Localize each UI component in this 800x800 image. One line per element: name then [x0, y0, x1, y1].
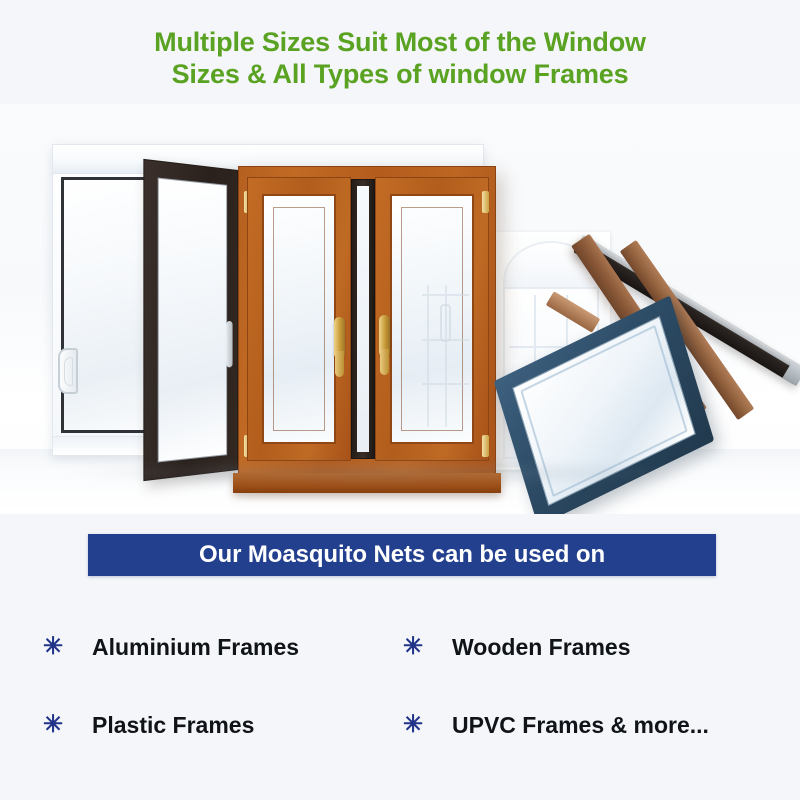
- page-title-line-1: Multiple Sizes Suit Most of the Window: [0, 26, 800, 58]
- asterisk-bullet-icon: ✳: [40, 713, 66, 737]
- list-item-label: Wooden Frames: [452, 634, 631, 661]
- list-item: ✳ Aluminium Frames: [40, 608, 400, 686]
- wooden-window-glass-left: [262, 194, 336, 444]
- background-window-grid: [392, 196, 472, 442]
- section-banner: Our Moasquito Nets can be used on: [88, 534, 716, 576]
- page-title: Multiple Sizes Suit Most of the Window S…: [0, 26, 800, 90]
- wooden-window-handle-right: [379, 315, 390, 357]
- wooden-window-leaf-right: [375, 177, 489, 461]
- list-item-label: Plastic Frames: [92, 712, 254, 739]
- dark-window-handle: [226, 321, 232, 367]
- product-banner-page: Multiple Sizes Suit Most of the Window S…: [0, 0, 800, 800]
- wooden-window-glazing-bead: [273, 207, 325, 431]
- list-item: ✳ Plastic Frames: [40, 686, 400, 764]
- sliding-window-pull-handle: [58, 348, 78, 394]
- wooden-window-mullion: [351, 179, 375, 459]
- wooden-window-hinge: [482, 191, 489, 213]
- asterisk-bullet-icon: ✳: [40, 635, 66, 659]
- wooden-window-hinge: [482, 435, 489, 457]
- dark-window-open-leaf: [143, 159, 238, 481]
- wooden-window-glass-right: [390, 194, 474, 444]
- wooden-window-handle-left: [334, 317, 345, 359]
- page-title-line-2: Sizes & All Types of window Frames: [0, 58, 800, 90]
- background-window-handle: [440, 304, 451, 342]
- frame-types-list: ✳ Aluminium Frames ✳ Wooden Frames ✳ Pla…: [40, 608, 764, 764]
- list-item-label: Aluminium Frames: [92, 634, 299, 661]
- list-item: ✳ UPVC Frames & more...: [400, 686, 764, 764]
- asterisk-bullet-icon: ✳: [400, 713, 426, 737]
- black-frame-end-cap: [782, 361, 800, 386]
- section-banner-label: Our Moasquito Nets can be used on: [199, 541, 605, 569]
- product-ground-shadow: [60, 460, 700, 486]
- wooden-window-mullion-glass: [357, 186, 369, 452]
- list-item-label: UPVC Frames & more...: [452, 712, 709, 739]
- asterisk-bullet-icon: ✳: [400, 635, 426, 659]
- wooden-double-casement-window: [238, 166, 496, 478]
- dark-window-leaf-glass: [158, 178, 227, 463]
- product-image: [0, 104, 800, 514]
- list-item: ✳ Wooden Frames: [400, 608, 764, 686]
